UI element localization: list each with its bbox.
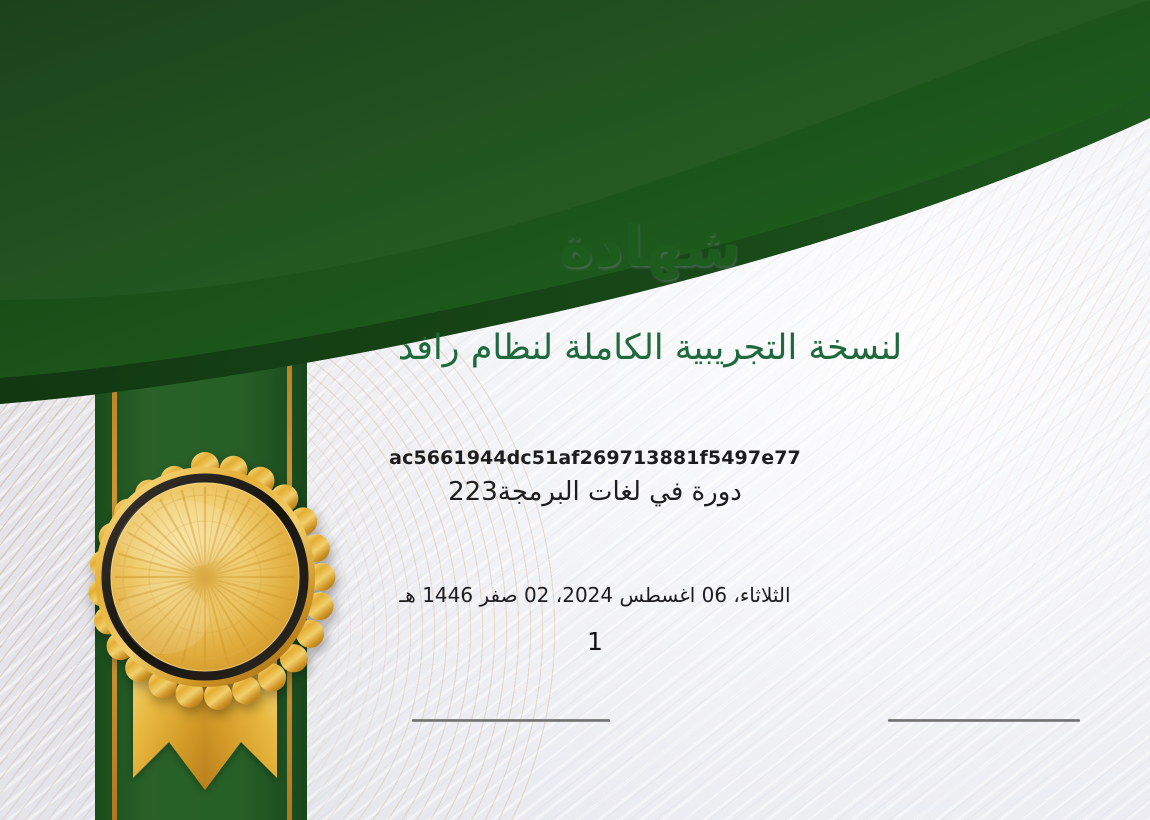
course-name: دورة في لغات البرمجة223 <box>40 477 1150 507</box>
signature-line-right <box>888 719 1080 722</box>
issue-date: الثلاثاء، 06 اغسطس 2024، 02 صفر 1446 هـ <box>40 583 1150 607</box>
serial-number: 1 <box>40 627 1150 656</box>
certificate-content: شهادة لنسخة التجريبية الكاملة لنظام رافد… <box>0 0 1150 820</box>
certificate-document: شهادة لنسخة التجريبية الكاملة لنظام رافد… <box>0 0 1150 820</box>
certificate-subtitle: لنسخة التجريبية الكاملة لنظام رافد <box>150 328 1150 368</box>
certificate-title: شهادة <box>150 212 1150 280</box>
signature-line-left <box>412 719 610 722</box>
verification-hash: ac5661944dc51af269713881f5497e77 <box>40 447 1150 469</box>
